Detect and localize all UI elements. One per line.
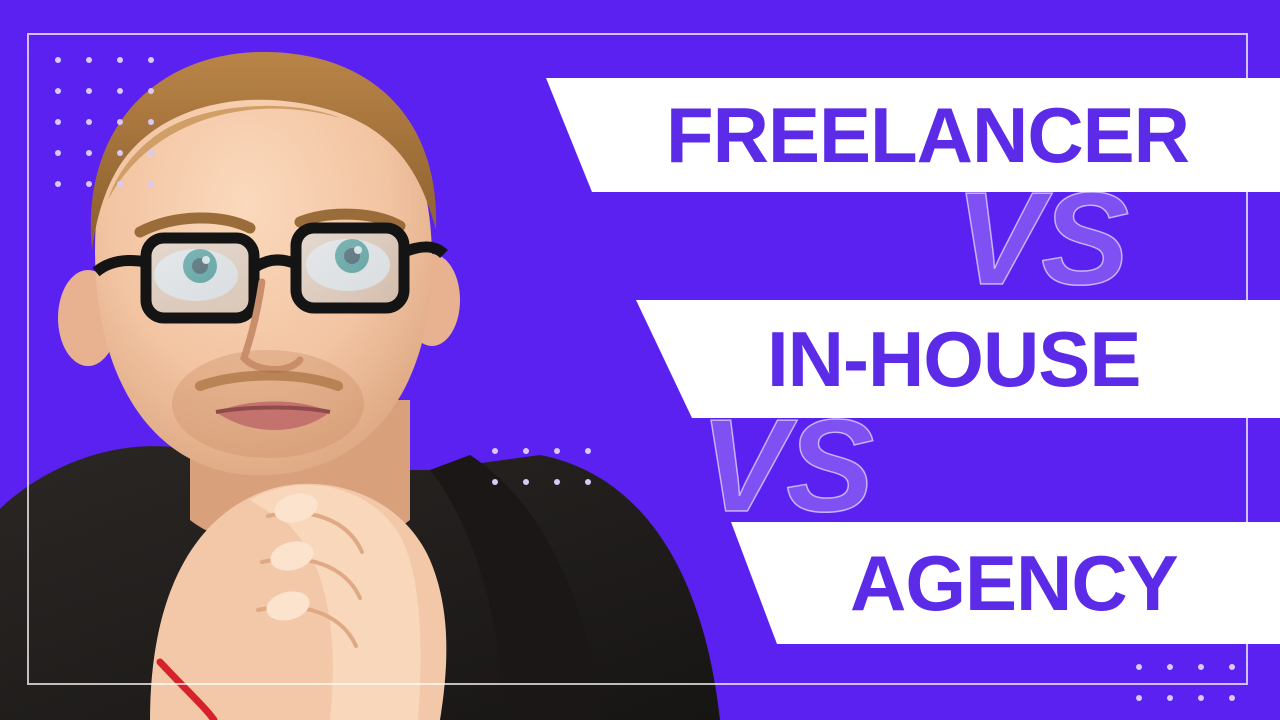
dot [523,479,529,485]
dot [554,479,560,485]
dot-grid-top-left [55,57,154,187]
dot [492,479,498,485]
versus-watermark-1: VS [955,178,1127,299]
dot [86,150,92,156]
dot [55,119,61,125]
dot [148,57,154,63]
versus-watermark-2: VS [700,405,872,526]
dot [117,150,123,156]
dot [1167,664,1173,670]
dot [1198,695,1204,701]
dot [148,181,154,187]
dot [55,57,61,63]
dot [1136,664,1142,670]
dot [523,448,529,454]
dot [86,119,92,125]
dot [55,181,61,187]
dot [554,448,560,454]
dot [117,181,123,187]
dot [117,119,123,125]
banner-label-freelancer: FREELANCER [666,96,1189,174]
banner-in-house: IN-HOUSE [630,300,1280,418]
dot [1229,695,1235,701]
dot [117,57,123,63]
dot-grid-bottom-right [1136,664,1235,701]
dot [55,88,61,94]
dot [86,88,92,94]
banner-label-agency: AGENCY [850,544,1178,622]
dot [585,479,591,485]
dot [1229,664,1235,670]
thumbnail-canvas: VS VS FREELANCER IN-HOUSE AGENCY [0,0,1280,720]
dot [148,150,154,156]
dot [1198,664,1204,670]
dot [585,448,591,454]
dot [148,119,154,125]
dot [86,57,92,63]
banner-freelancer: FREELANCER [540,78,1280,192]
dot [1167,695,1173,701]
dot [86,181,92,187]
dot-grid-middle [492,448,591,485]
dot [55,150,61,156]
dot [148,88,154,94]
banner-label-in-house: IN-HOUSE [767,320,1140,398]
dot [117,88,123,94]
dot [1136,695,1142,701]
dot [492,448,498,454]
banner-agency: AGENCY [725,522,1280,644]
